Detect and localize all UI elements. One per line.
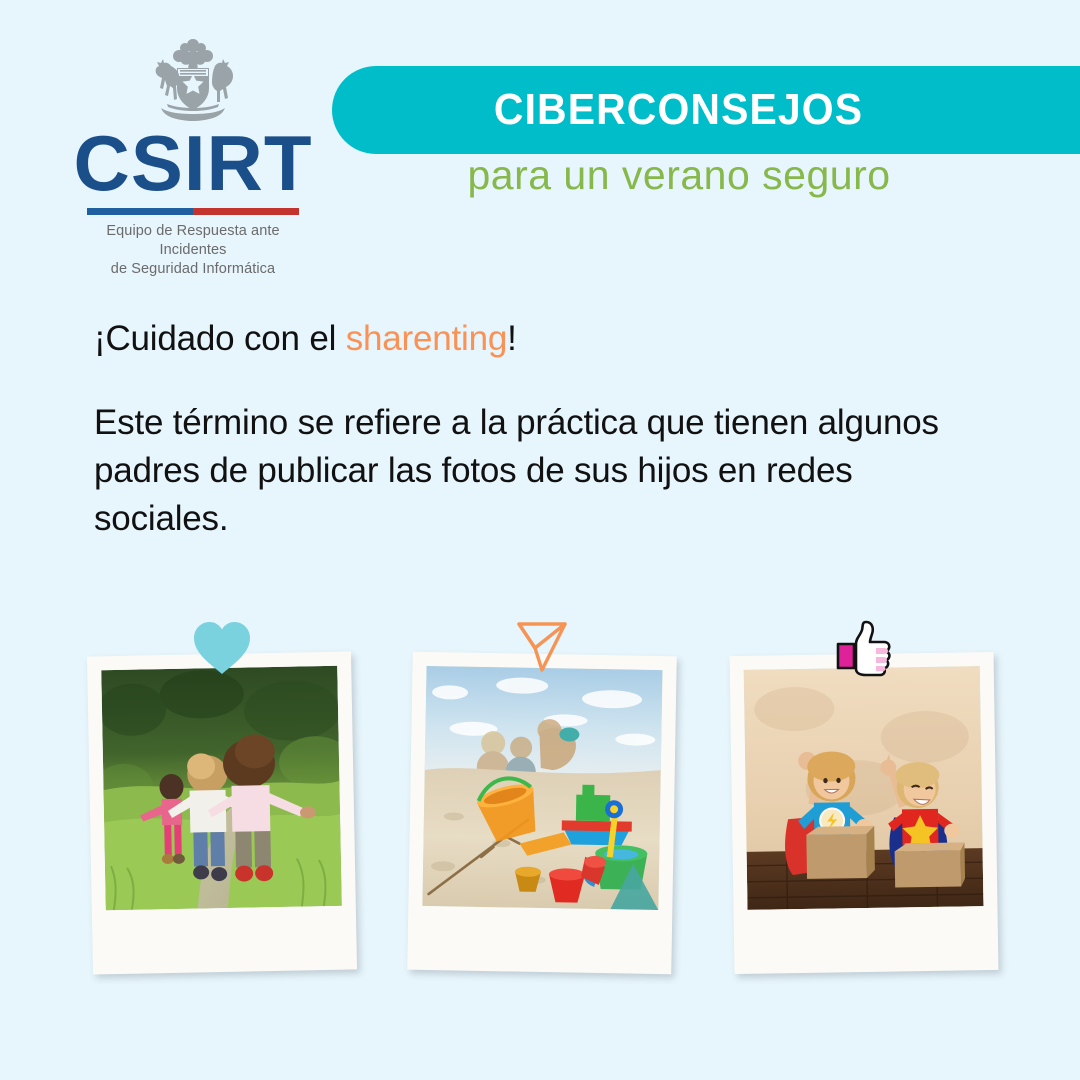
gallery-item: [72, 618, 372, 978]
heart-icon: [190, 618, 254, 676]
gallery-item: [714, 618, 1014, 978]
polaroid-frame: [730, 652, 999, 974]
banner-subtitle: para un verano seguro: [332, 152, 1080, 199]
flag-rule-blue: [87, 208, 193, 215]
banner-title: CIBERCONSEJOS: [494, 85, 863, 135]
chile-flag-rule: [87, 208, 299, 215]
banner-pill: CIBERCONSEJOS: [332, 66, 1080, 154]
poster-header: CSIRT Equipo de Respuesta ante Incidente…: [0, 0, 1080, 265]
send-icon: [510, 618, 574, 676]
csirt-tagline-line2: de Seguridad Informática: [73, 260, 313, 279]
photo-superhero-children-in-boxes: [744, 666, 984, 910]
gallery-item: [392, 618, 692, 978]
lede-line: ¡Cuidado con el sharenting!: [94, 318, 984, 361]
thumbs-up-icon: [832, 618, 896, 676]
csirt-wordmark: CSIRT: [48, 128, 338, 200]
csirt-tagline: Equipo de Respuesta ante Incidentes de S…: [73, 222, 313, 279]
poster-canvas: CSIRT Equipo de Respuesta ante Incidente…: [0, 0, 1080, 1080]
photo-beach-toys-in-sand: [422, 666, 662, 910]
lede-suffix: !: [507, 319, 517, 358]
csirt-logo: CSIRT Equipo de Respuesta ante Incidente…: [48, 36, 338, 279]
lede-prefix: ¡Cuidado con el: [94, 319, 346, 358]
polaroid-frame: [407, 652, 677, 975]
body-copy: ¡Cuidado con el sharenting! Este término…: [94, 318, 984, 544]
body-paragraph: Este término se refiere a la práctica qu…: [94, 399, 954, 544]
lede-highlight-term: sharenting: [346, 319, 507, 358]
photo-three-children-running: [101, 666, 342, 910]
polaroid-frame: [87, 651, 357, 974]
polaroid-gallery: [0, 618, 1080, 998]
csirt-tagline-line1: Equipo de Respuesta ante Incidentes: [73, 222, 313, 260]
chile-coat-of-arms-icon: [137, 36, 249, 124]
flag-rule-red: [193, 208, 299, 215]
